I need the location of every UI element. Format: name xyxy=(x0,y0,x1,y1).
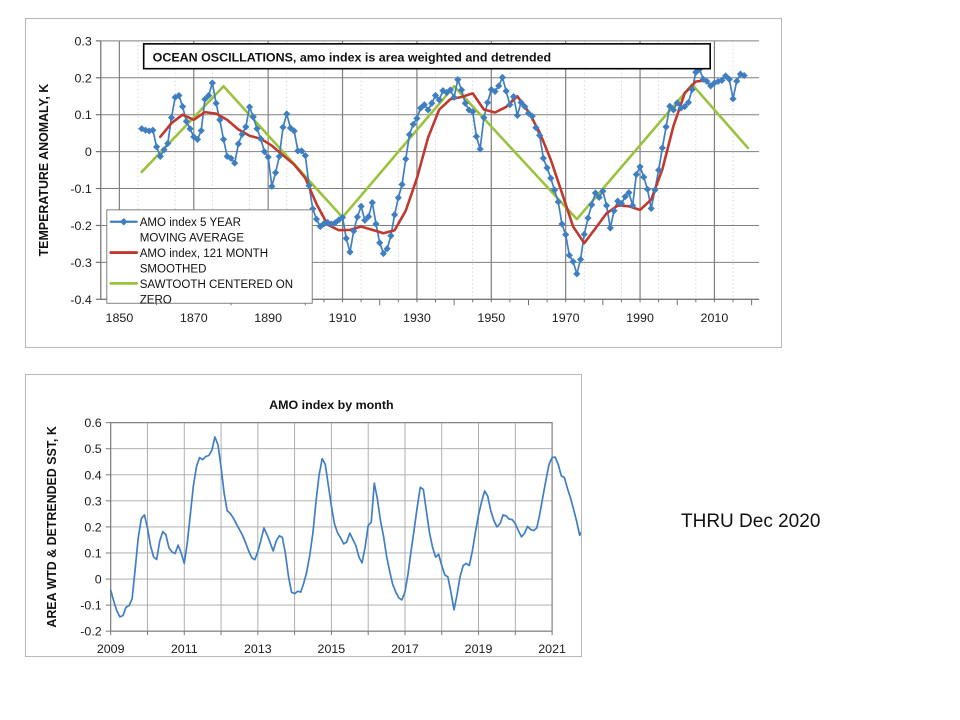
top-ytick-label: -0.2 xyxy=(70,219,92,233)
top-xtick-label: 1990 xyxy=(626,311,654,325)
slide-root: 0.30.20.10-0.1-0.2-0.3-0.418501870189019… xyxy=(0,0,960,720)
bottom-ytick-label: -0.1 xyxy=(80,599,102,613)
data-point-marker xyxy=(242,123,249,130)
top-ytick-label: -0.3 xyxy=(70,256,92,270)
data-point-marker xyxy=(651,186,658,193)
data-point-marker xyxy=(499,74,506,81)
data-point-marker xyxy=(220,136,227,143)
top-ytick-label: -0.4 xyxy=(70,293,92,307)
data-point-marker xyxy=(603,202,610,209)
ocean-oscillations-svg: 0.30.20.10-0.1-0.2-0.3-0.418501870189019… xyxy=(26,19,781,347)
data-point-marker xyxy=(573,270,580,277)
amo-monthly-chart: 0.60.50.40.30.20.10-0.1-0.22009201120132… xyxy=(25,374,582,657)
data-point-marker xyxy=(209,79,216,86)
data-point-marker xyxy=(648,205,655,212)
data-point-marker xyxy=(581,231,588,238)
data-point-marker xyxy=(212,100,219,107)
data-point-marker xyxy=(369,199,376,206)
top-xtick-label: 2010 xyxy=(701,311,729,325)
top-xtick-label: 1970 xyxy=(552,311,580,325)
legend-label: AMO index 5 YEAR xyxy=(140,217,241,229)
top-xtick-label: 1950 xyxy=(477,311,505,325)
top-xtick-label: 1890 xyxy=(254,311,282,325)
legend-label: SMOOTHED xyxy=(140,263,207,275)
top-chart-title: OCEAN OSCILLATIONS, amo index is area we… xyxy=(153,51,552,65)
data-point-marker xyxy=(659,144,666,151)
top-chart-legend: AMO index 5 YEARMOVING AVERAGEAMO index,… xyxy=(107,210,312,306)
data-point-marker xyxy=(514,112,521,119)
data-point-marker xyxy=(153,143,160,150)
data-point-marker xyxy=(395,194,402,201)
data-point-marker xyxy=(566,252,573,259)
top-plot-area: 0.30.20.10-0.1-0.2-0.3-0.418501870189019… xyxy=(37,34,759,325)
bottom-xtick-label: 2013 xyxy=(244,642,272,656)
data-point-marker xyxy=(346,248,353,255)
top-ytick-label: 0.3 xyxy=(74,34,91,48)
data-point-marker xyxy=(547,175,554,182)
bottom-ytick-label: 0.4 xyxy=(84,468,101,482)
data-point-marker xyxy=(279,124,286,131)
bottom-xtick-label: 2015 xyxy=(318,642,346,656)
bottom-plot-area: 0.60.50.40.30.20.10-0.1-0.22009201120132… xyxy=(45,398,581,656)
data-point-marker xyxy=(562,231,569,238)
data-point-marker xyxy=(428,100,435,107)
data-point-marker xyxy=(272,169,279,176)
ocean-oscillations-chart: 0.30.20.10-0.1-0.2-0.3-0.418501870189019… xyxy=(25,18,782,348)
bottom-ytick-label: 0 xyxy=(95,573,102,587)
legend-label: MOVING AVERAGE xyxy=(140,233,245,245)
data-point-marker xyxy=(543,164,550,171)
data-point-marker xyxy=(246,103,253,110)
data-point-marker xyxy=(540,155,547,162)
data-point-marker xyxy=(558,220,565,227)
data-point-marker xyxy=(733,78,740,85)
data-point-marker xyxy=(503,87,510,94)
top-xtick-label: 1910 xyxy=(329,311,357,325)
data-point-marker xyxy=(354,213,361,220)
data-point-marker xyxy=(387,232,394,239)
data-point-marker xyxy=(644,186,651,193)
data-point-marker xyxy=(584,214,591,221)
data-point-marker xyxy=(555,198,562,205)
data-point-marker xyxy=(454,76,461,83)
legend-label: ZERO xyxy=(140,294,172,306)
bottom-xtick-label: 2011 xyxy=(171,642,198,656)
data-point-marker xyxy=(473,133,480,140)
data-point-marker xyxy=(662,123,669,130)
top-xtick-label: 1850 xyxy=(106,311,134,325)
top-ytick-label: 0.2 xyxy=(74,71,91,85)
bottom-xtick-label: 2017 xyxy=(391,642,419,656)
bottom-chart-title: AMO index by month xyxy=(269,398,393,412)
bottom-ytick-label: 0.6 xyxy=(84,416,101,430)
thru-date-note: THRU Dec 2020 xyxy=(681,511,820,533)
data-point-marker xyxy=(372,220,379,227)
legend-label: AMO index, 121 MONTH xyxy=(140,248,268,260)
bottom-ytick-label: 0.5 xyxy=(84,442,101,456)
data-point-marker xyxy=(484,99,491,106)
data-point-marker xyxy=(313,216,320,223)
data-point-marker xyxy=(398,181,405,188)
top-ytick-label: 0.1 xyxy=(74,108,91,122)
bottom-ytick-label: -0.2 xyxy=(80,625,102,639)
top-ytick-label: 0 xyxy=(85,145,92,159)
data-point-marker xyxy=(283,110,290,117)
data-point-marker xyxy=(186,125,193,132)
top-xtick-label: 1930 xyxy=(403,311,431,325)
data-point-marker xyxy=(640,174,647,181)
data-point-marker xyxy=(402,155,409,162)
data-point-marker xyxy=(633,171,640,178)
data-point-marker xyxy=(376,239,383,246)
data-point-marker xyxy=(729,95,736,102)
data-point-marker xyxy=(636,163,643,170)
data-point-marker xyxy=(391,211,398,218)
top-xtick-label: 1870 xyxy=(180,311,208,325)
data-point-marker xyxy=(179,103,186,110)
bottom-ytick-label: 0.2 xyxy=(84,520,101,534)
data-point-marker xyxy=(235,140,242,147)
top-y-axis-title: TEMPERATURE ANOMALY, K xyxy=(37,84,51,257)
top-chart-title-box: OCEAN OSCILLATIONS, amo index is area we… xyxy=(144,44,710,69)
data-point-marker xyxy=(198,127,205,134)
top-ytick-label: -0.1 xyxy=(70,182,92,196)
bottom-xtick-label: 2019 xyxy=(465,642,493,656)
data-point-marker xyxy=(570,258,577,265)
data-point-marker xyxy=(588,201,595,208)
amo-monthly-svg: 0.60.50.40.30.20.10-0.1-0.22009201120132… xyxy=(26,375,581,656)
bottom-xtick-label: 2009 xyxy=(97,642,125,656)
bottom-ytick-label: 0.3 xyxy=(84,494,101,508)
bottom-ytick-label: 0.1 xyxy=(84,546,101,560)
bottom-xtick-label: 2021 xyxy=(538,642,566,656)
data-point-marker xyxy=(343,235,350,242)
data-point-marker xyxy=(358,203,365,210)
legend-label: SAWTOOTH CENTERED ON xyxy=(140,279,293,291)
data-point-marker xyxy=(610,207,617,214)
bottom-y-axis-title: AREA WTD & DETRENDED SST, K xyxy=(45,426,59,627)
